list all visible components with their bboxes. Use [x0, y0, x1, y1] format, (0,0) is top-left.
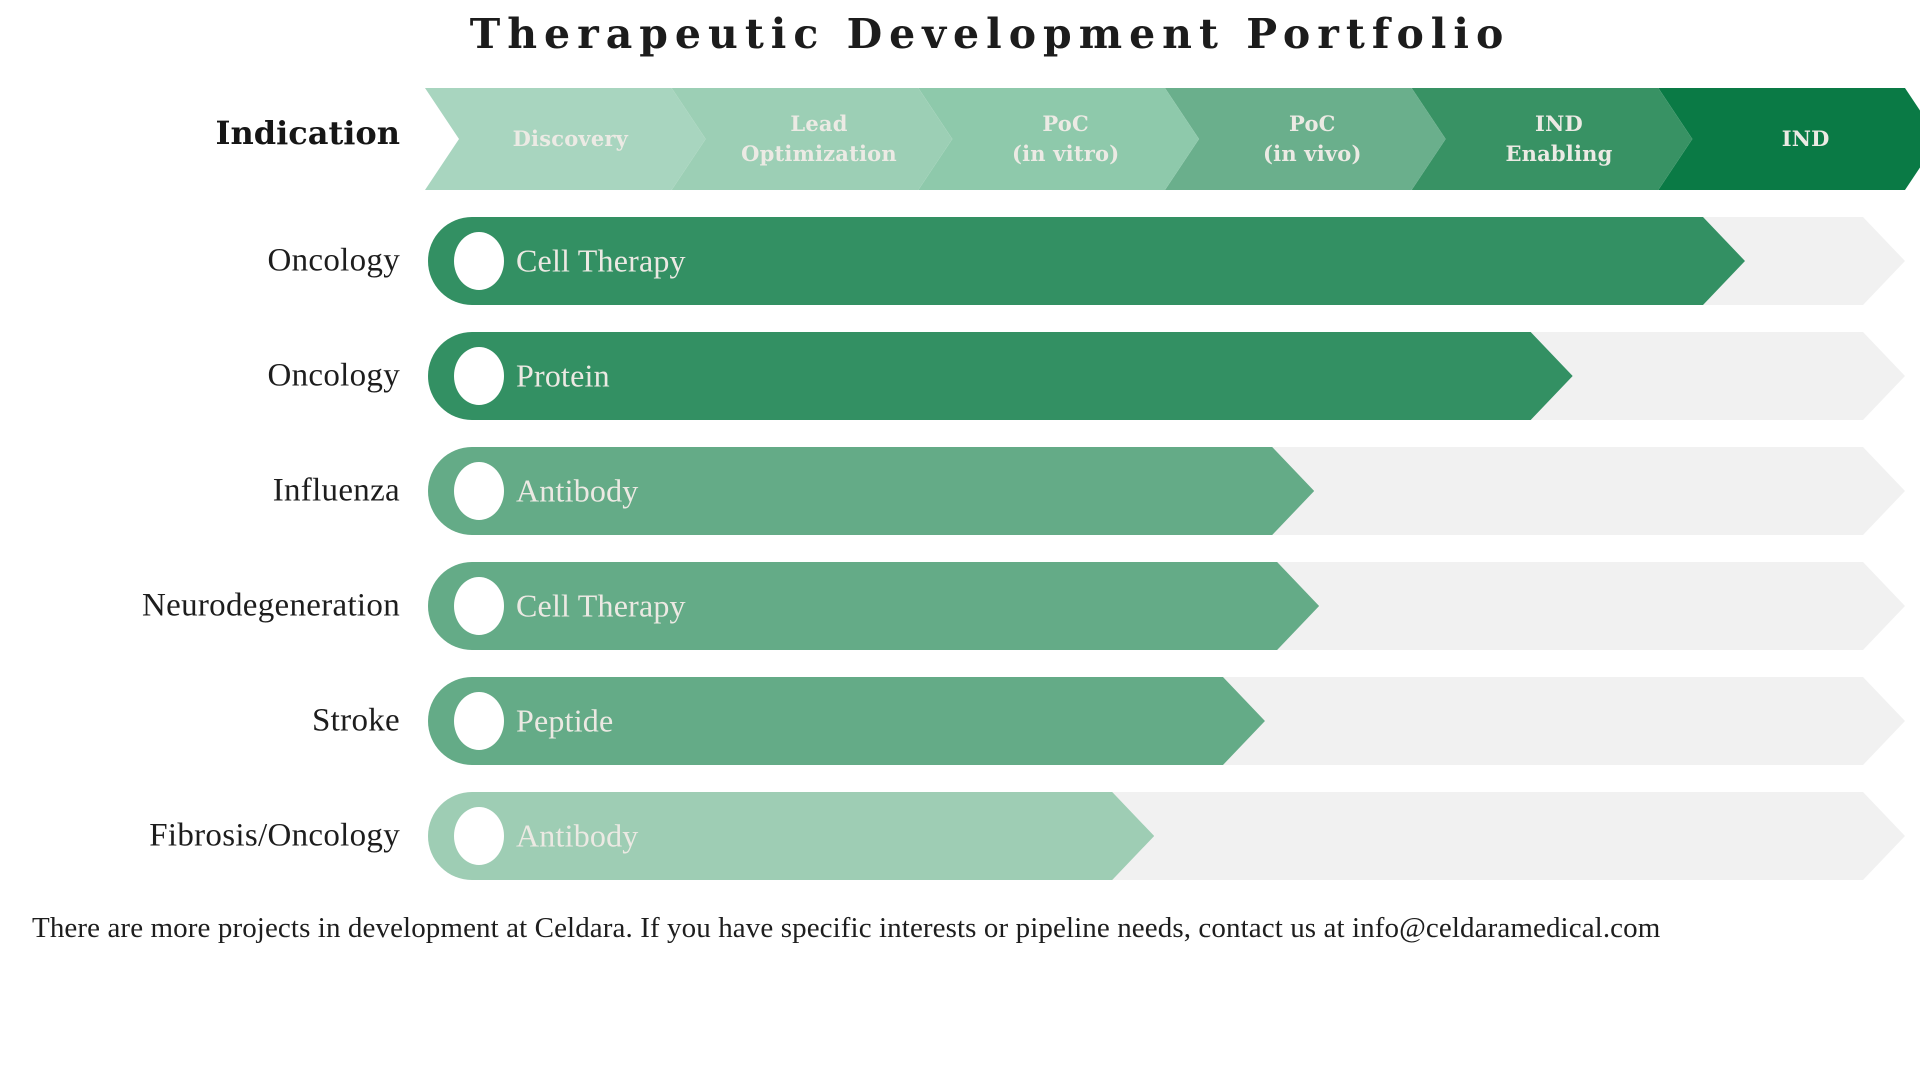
program-start-marker-icon: [454, 807, 504, 865]
stage-chevron-lead-optimization[interactable]: Lead Optimization: [672, 88, 953, 190]
indication-label: Stroke: [0, 703, 400, 740]
indication-label: Fibrosis/Oncology: [0, 818, 400, 855]
modality-label: Protein: [516, 358, 610, 395]
stage-label: Lead Optimization: [741, 109, 897, 169]
modality-label: Cell Therapy: [516, 243, 686, 280]
modality-label: Peptide: [516, 703, 613, 740]
stage-label: PoC (in vitro): [1012, 109, 1119, 169]
stage-label: PoC (in vivo): [1263, 109, 1362, 169]
stage-chevron-strip: DiscoveryLead OptimizationPoC (in vitro)…: [425, 88, 1905, 190]
stage-label: IND Enabling: [1505, 109, 1612, 169]
progress-track: Protein: [428, 332, 1905, 420]
pipeline-row[interactable]: NeurodegenerationCell Therapy: [0, 560, 1920, 652]
progress-track: Cell Therapy: [428, 562, 1905, 650]
pipeline-row[interactable]: OncologyProtein: [0, 330, 1920, 422]
indication-column-header: Indication: [20, 114, 400, 152]
program-start-marker-icon: [454, 462, 504, 520]
progress-track: Antibody: [428, 447, 1905, 535]
page-title: Therapeutic Development Portfolio: [0, 10, 1920, 58]
progress-track: Cell Therapy: [428, 217, 1905, 305]
program-start-marker-icon: [454, 347, 504, 405]
stage-header-row: Indication DiscoveryLead OptimizationPoC…: [0, 88, 1920, 190]
stage-label: IND: [1782, 124, 1830, 154]
indication-label: Oncology: [0, 243, 400, 280]
program-start-marker-icon: [454, 232, 504, 290]
stage-chevron-discovery[interactable]: Discovery: [425, 88, 706, 190]
modality-label: Antibody: [516, 473, 639, 510]
program-start-marker-icon: [454, 692, 504, 750]
stage-chevron-poc-in-vitro[interactable]: PoC (in vitro): [918, 88, 1199, 190]
stage-chevron-poc-in-vivo[interactable]: PoC (in vivo): [1165, 88, 1446, 190]
progress-track: Peptide: [428, 677, 1905, 765]
pipeline-row[interactable]: StrokePeptide: [0, 675, 1920, 767]
pipeline-row[interactable]: InfluenzaAntibody: [0, 445, 1920, 537]
stage-chevron-ind[interactable]: IND: [1658, 88, 1920, 190]
footer-note: There are more projects in development a…: [32, 912, 1660, 945]
modality-label: Antibody: [516, 818, 639, 855]
pipeline-row[interactable]: OncologyCell Therapy: [0, 215, 1920, 307]
progress-track: Antibody: [428, 792, 1905, 880]
stage-label: Discovery: [513, 124, 628, 154]
modality-label: Cell Therapy: [516, 588, 686, 625]
indication-label: Influenza: [0, 473, 400, 510]
pipeline-row[interactable]: Fibrosis/OncologyAntibody: [0, 790, 1920, 882]
stage-chevron-ind-enabling[interactable]: IND Enabling: [1412, 88, 1693, 190]
indication-label: Oncology: [0, 358, 400, 395]
program-start-marker-icon: [454, 577, 504, 635]
indication-label: Neurodegeneration: [0, 588, 400, 625]
